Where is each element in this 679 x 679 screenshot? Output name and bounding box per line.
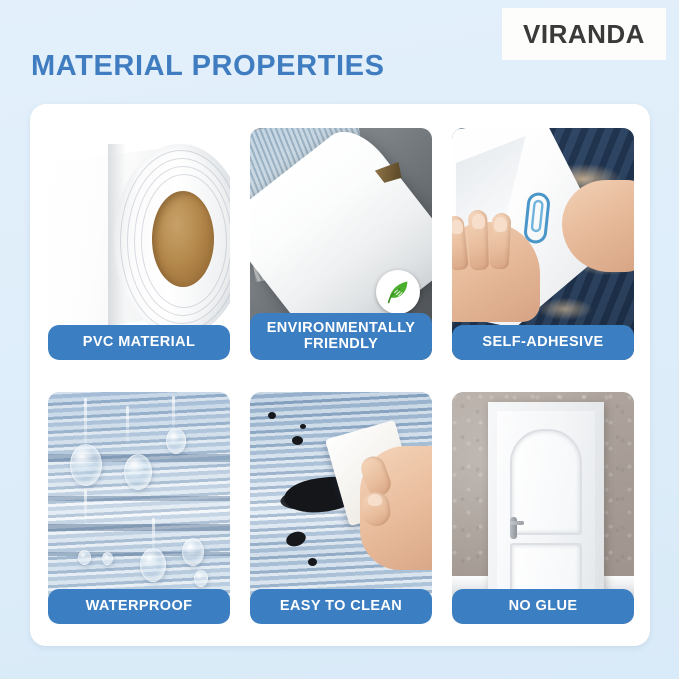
leaf-icon [376, 270, 420, 314]
feature-card-self-adhesive[interactable]: SELF-ADHESIVE [452, 128, 634, 360]
feature-card-easy-to-clean[interactable]: EASY TO CLEAN [250, 392, 432, 624]
water-droplet [70, 444, 102, 486]
brand-logo: VIRANDA [502, 8, 666, 60]
door-slab [497, 411, 595, 590]
water-droplet [194, 570, 208, 587]
feature-label-no-glue: NO GLUE [452, 589, 634, 624]
paperclip-icon [519, 189, 555, 248]
hand-wiping [360, 446, 432, 570]
water-droplet [78, 550, 91, 565]
water-droplet [140, 548, 166, 582]
feature-card-no-glue[interactable]: NO GLUE [452, 392, 634, 624]
infographic-page: VIRANDA MATERIAL PROPERTIES PVC MATERIAL [0, 0, 679, 679]
feature-card-waterproof[interactable]: WATERPROOF [48, 392, 230, 624]
page-title: MATERIAL PROPERTIES [31, 50, 385, 83]
stain-spot [292, 436, 303, 445]
feature-label-self-adhesive: SELF-ADHESIVE [452, 325, 634, 360]
feature-label-environmentally-friendly: ENVIRONMENTALLY FRIENDLY [250, 313, 432, 360]
stain-spot [308, 558, 317, 566]
water-droplet [102, 552, 113, 565]
door-handle-icon [510, 517, 517, 539]
feature-label-waterproof: WATERPROOF [48, 589, 230, 624]
water-droplet [182, 538, 204, 566]
feature-label-pvc-material: PVC MATERIAL [48, 325, 230, 360]
stain-spot [300, 424, 306, 429]
feature-card-pvc-material[interactable]: PVC MATERIAL [48, 128, 230, 360]
brand-name: VIRANDA [523, 19, 645, 50]
feature-label-easy-to-clean: EASY TO CLEAN [250, 589, 432, 624]
feature-card-environmentally-friendly[interactable]: ENVIRONMENTALLY FRIENDLY [250, 128, 432, 360]
cardboard-core-icon [152, 191, 214, 287]
feature-grid: PVC MATERIAL [48, 128, 632, 624]
water-droplet [166, 428, 186, 454]
door-frame [488, 402, 604, 590]
stain-spot [268, 412, 276, 419]
water-droplet [124, 454, 152, 490]
